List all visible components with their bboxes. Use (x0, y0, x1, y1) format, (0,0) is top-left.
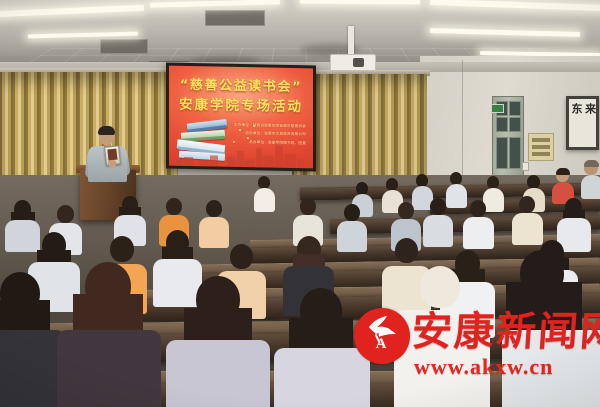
speaker-hair (98, 126, 115, 135)
exit-sign-icon (491, 104, 504, 113)
skyline-graphic-icon (169, 140, 313, 169)
wall-calligraphy-frame: 东 来 (566, 96, 599, 150)
lecture-hall-photo: “慈善公益读书会” 安康学院专场活动 主办单位：陕西省慈善协会安康市慈善协会 协… (0, 0, 600, 407)
projector-lens-icon (353, 58, 364, 67)
watermark-url: www.akxw.cn (414, 354, 553, 380)
light-switch[interactable] (522, 162, 529, 171)
calligraphy-char-1: 东 (569, 103, 582, 143)
watermark-logo-letter: A (374, 336, 388, 352)
projection-screen-surface: “慈善公益读书会” 安康学院专场活动 主办单位：陕西省慈善协会安康市慈善协会 协… (169, 66, 313, 169)
speaker-hand (108, 160, 116, 167)
projector-mount-pole (348, 26, 354, 56)
slide-title: “慈善公益读书会” 安康学院专场活动 (169, 77, 313, 118)
watermark-site-name: 安康新闻网 (410, 308, 600, 356)
wall-notice-board (528, 133, 554, 161)
calligraphy-char-2: 来 (583, 103, 596, 143)
ceiling-vent (100, 39, 148, 54)
ceiling-vent (205, 10, 265, 26)
watermark: A 安康新闻网 www.akxw.cn (352, 302, 600, 390)
projection-screen: “慈善公益读书会” 安康学院专场活动 主办单位：陕西省慈善协会安康市慈善协会 协… (166, 63, 316, 172)
slide-title-line1: “慈善公益读书会” (169, 77, 313, 99)
slide-title-line2: 安康学院专场活动 (169, 95, 313, 117)
